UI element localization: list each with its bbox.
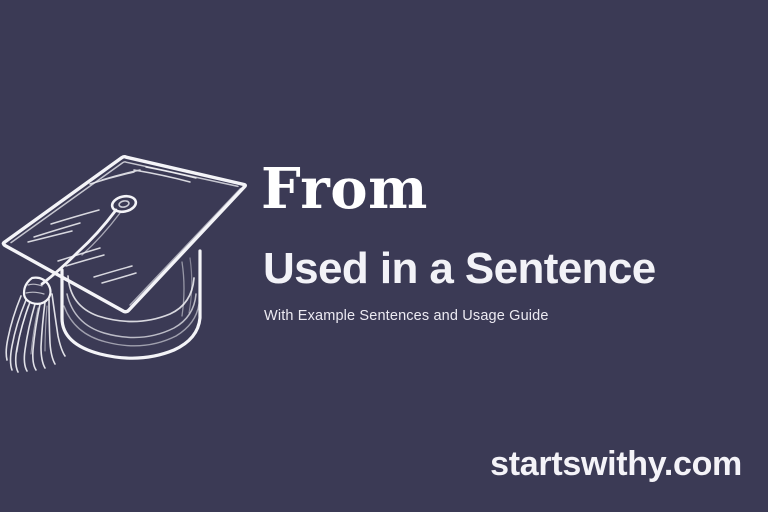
brand-domain[interactable]: startswithy.com xyxy=(490,445,742,484)
page-title-word: From xyxy=(261,158,761,220)
page-title-phrase: Used in a Sentence xyxy=(263,244,656,294)
headline-block: From Used in a Sentence With Example Sen… xyxy=(261,158,761,220)
tassel-strands xyxy=(6,294,65,372)
graduation-cap-icon xyxy=(0,138,252,374)
tassel-head xyxy=(24,278,51,304)
poster-canvas: From Used in a Sentence With Example Sen… xyxy=(0,0,768,512)
mortarboard-board xyxy=(3,157,245,312)
page-subtitle: With Example Sentences and Usage Guide xyxy=(264,308,549,324)
